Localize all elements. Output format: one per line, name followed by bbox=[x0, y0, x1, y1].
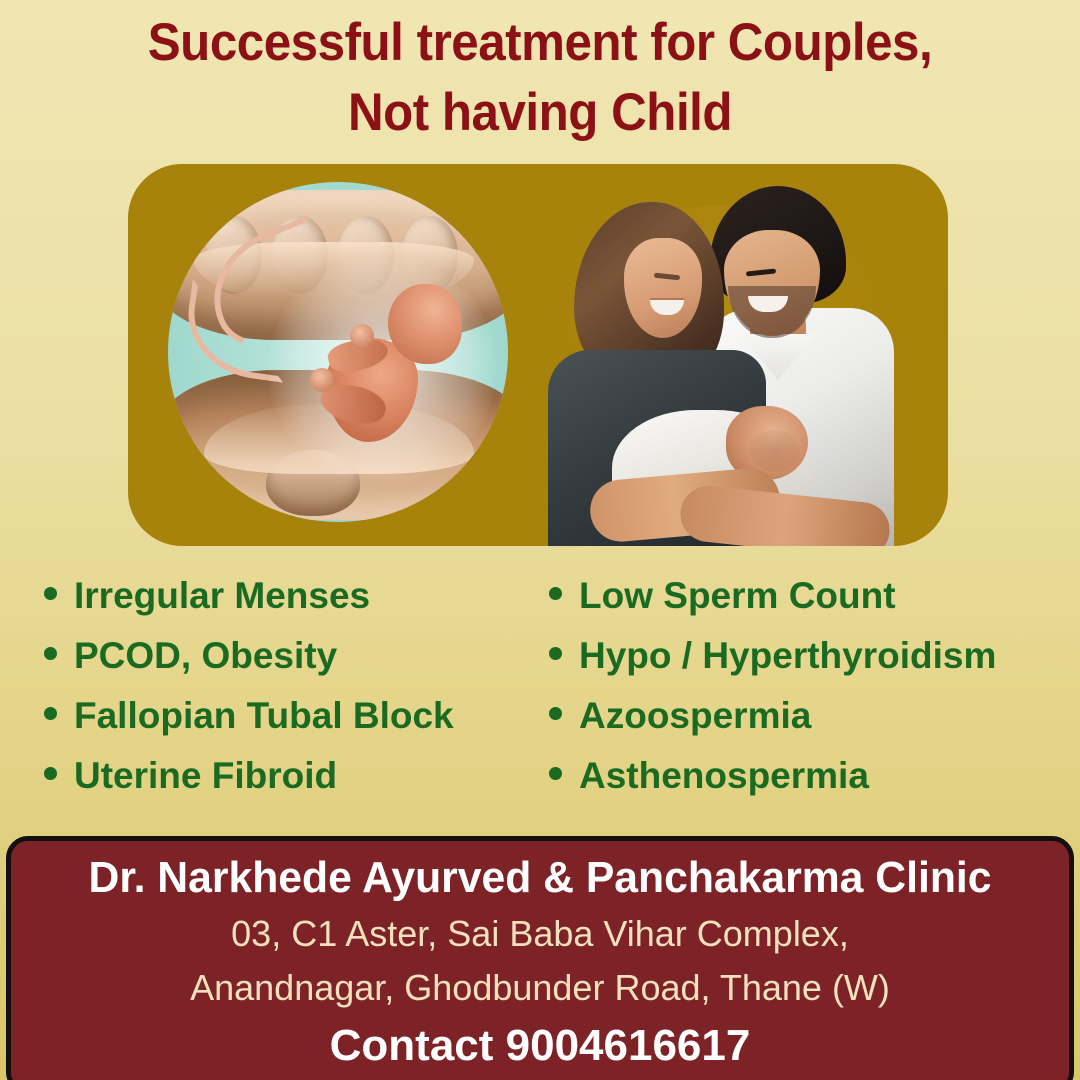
list-item: Hypo / Hyperthyroidism bbox=[549, 626, 1046, 686]
condition-label: Asthenospermia bbox=[579, 746, 869, 806]
bullet-dot-icon bbox=[549, 647, 562, 660]
condition-label: Uterine Fibroid bbox=[74, 746, 337, 806]
conditions-list-male: Low Sperm Count Hypo / Hyperthyroidism A… bbox=[549, 566, 1046, 806]
condition-label: PCOD, Obesity bbox=[74, 626, 337, 686]
list-item: Irregular Menses bbox=[44, 566, 541, 626]
list-item: Azoospermia bbox=[549, 686, 1046, 746]
condition-label: Hypo / Hyperthyroidism bbox=[579, 626, 996, 686]
clinic-contact-banner: Dr. Narkhede Ayurved & Panchakarma Clini… bbox=[6, 836, 1074, 1080]
conditions-column-male: Low Sperm Count Hypo / Hyperthyroidism A… bbox=[541, 566, 1046, 806]
conditions-list-female: Irregular Menses PCOD, Obesity Fallopian… bbox=[44, 566, 541, 806]
bullet-dot-icon bbox=[44, 767, 57, 780]
page-title: Successful treatment for Couples, Not ha… bbox=[0, 8, 1080, 148]
clinic-address-line-1: 03, C1 Aster, Sai Baba Vihar Complex, bbox=[11, 907, 1069, 961]
condition-label: Low Sperm Count bbox=[579, 566, 896, 626]
bullet-dot-icon bbox=[44, 647, 57, 660]
conditions-column-female: Irregular Menses PCOD, Obesity Fallopian… bbox=[44, 566, 541, 806]
couple-with-newborn-photo bbox=[512, 174, 930, 546]
conditions-section: Irregular Menses PCOD, Obesity Fallopian… bbox=[0, 566, 1080, 806]
teal-circle-backdrop bbox=[168, 182, 508, 522]
clinic-phone-number[interactable]: Contact 9004616617 bbox=[11, 1017, 1069, 1075]
fetus-icon bbox=[302, 282, 464, 452]
headline-line-2: Not having Child bbox=[75, 78, 1005, 148]
bullet-dot-icon bbox=[549, 767, 562, 780]
bullet-dot-icon bbox=[549, 587, 562, 600]
bullet-dot-icon bbox=[44, 587, 57, 600]
bullet-dot-icon bbox=[549, 707, 562, 720]
condition-label: Azoospermia bbox=[579, 686, 811, 746]
media-panel bbox=[128, 164, 948, 546]
condition-label: Irregular Menses bbox=[74, 566, 370, 626]
list-item: Asthenospermia bbox=[549, 746, 1046, 806]
fetus-in-hands-illustration bbox=[146, 168, 520, 542]
condition-label: Fallopian Tubal Block bbox=[74, 686, 454, 746]
bullet-dot-icon bbox=[44, 707, 57, 720]
list-item: Fallopian Tubal Block bbox=[44, 686, 541, 746]
list-item: PCOD, Obesity bbox=[44, 626, 541, 686]
list-item: Low Sperm Count bbox=[549, 566, 1046, 626]
poster-canvas: Successful treatment for Couples, Not ha… bbox=[0, 0, 1080, 1080]
clinic-address-line-2: Anandnagar, Ghodbunder Road, Thane (W) bbox=[11, 961, 1069, 1015]
list-item: Uterine Fibroid bbox=[44, 746, 541, 806]
clinic-name: Dr. Narkhede Ayurved & Panchakarma Clini… bbox=[27, 849, 1053, 907]
headline-line-1: Successful treatment for Couples, bbox=[75, 8, 1005, 78]
